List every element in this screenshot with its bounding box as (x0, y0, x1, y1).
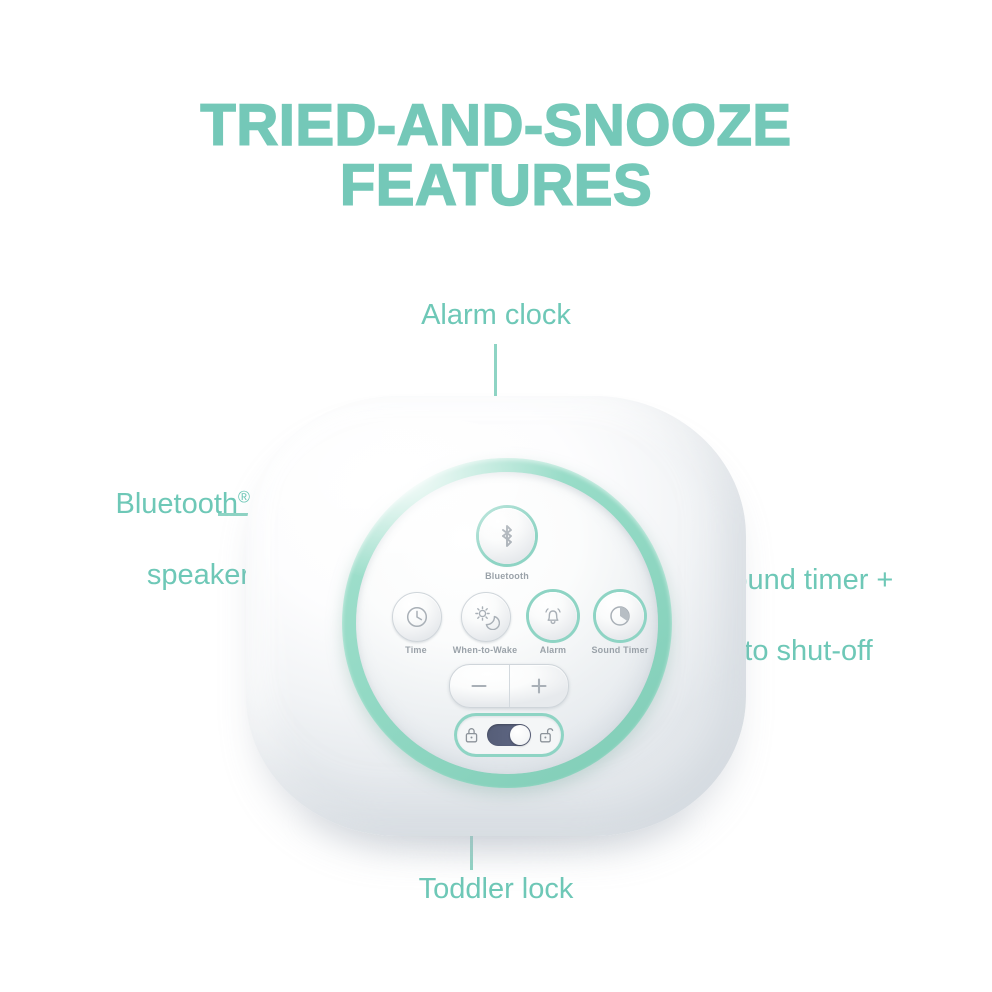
padlock-open-icon (539, 726, 554, 744)
sound-machine-device: Bluetooth Time (236, 392, 756, 862)
alarm-button[interactable] (529, 592, 577, 640)
page-title: TRIED-AND-SNOOZE FEATURES (0, 96, 992, 217)
volume-up-button[interactable] (509, 665, 568, 707)
minus-icon (468, 675, 490, 697)
clock-icon (404, 604, 430, 630)
toddler-lock-control[interactable] (457, 716, 561, 754)
sun-moon-icon (472, 604, 500, 630)
title-line-1: TRIED-AND-SNOOZE (0, 96, 992, 156)
time-button-label: Time (405, 645, 427, 655)
toddler-lock-switch-knob[interactable] (510, 725, 530, 745)
sound-timer-button-label: Sound Timer (591, 645, 648, 655)
poster-canvas: TRIED-AND-SNOOZE FEATURES Alarm clock Bl… (0, 0, 992, 992)
callout-bluetooth-word: Bluetooth (115, 488, 238, 520)
callout-bluetooth-speaker: Bluetooth® speaker (10, 452, 250, 594)
bluetooth-button[interactable] (479, 508, 535, 564)
device-body: Bluetooth Time (246, 396, 746, 836)
when-to-wake-button[interactable] (461, 592, 511, 642)
mint-light-ring: Bluetooth Time (342, 458, 672, 788)
pie-timer-icon (607, 603, 633, 629)
callout-speaker-word: speaker (147, 559, 250, 591)
title-line-2: FEATURES (0, 156, 992, 216)
padlock-closed-icon (464, 726, 479, 744)
bell-icon (540, 603, 566, 629)
toddler-lock-switch[interactable] (487, 724, 531, 746)
volume-rocker (449, 664, 569, 708)
volume-down-button[interactable] (450, 665, 509, 707)
plus-icon (528, 675, 550, 697)
callout-toddler-lock: Toddler lock (0, 872, 992, 907)
bluetooth-icon (496, 523, 518, 549)
alarm-button-label: Alarm (540, 645, 567, 655)
when-to-wake-button-label: When-to-Wake (453, 645, 518, 655)
time-button[interactable] (392, 592, 442, 642)
bluetooth-button-label: Bluetooth (485, 571, 529, 581)
callout-alarm-clock: Alarm clock (0, 298, 992, 333)
device-control-face: Bluetooth Time (356, 472, 658, 774)
sound-timer-button[interactable] (596, 592, 644, 640)
